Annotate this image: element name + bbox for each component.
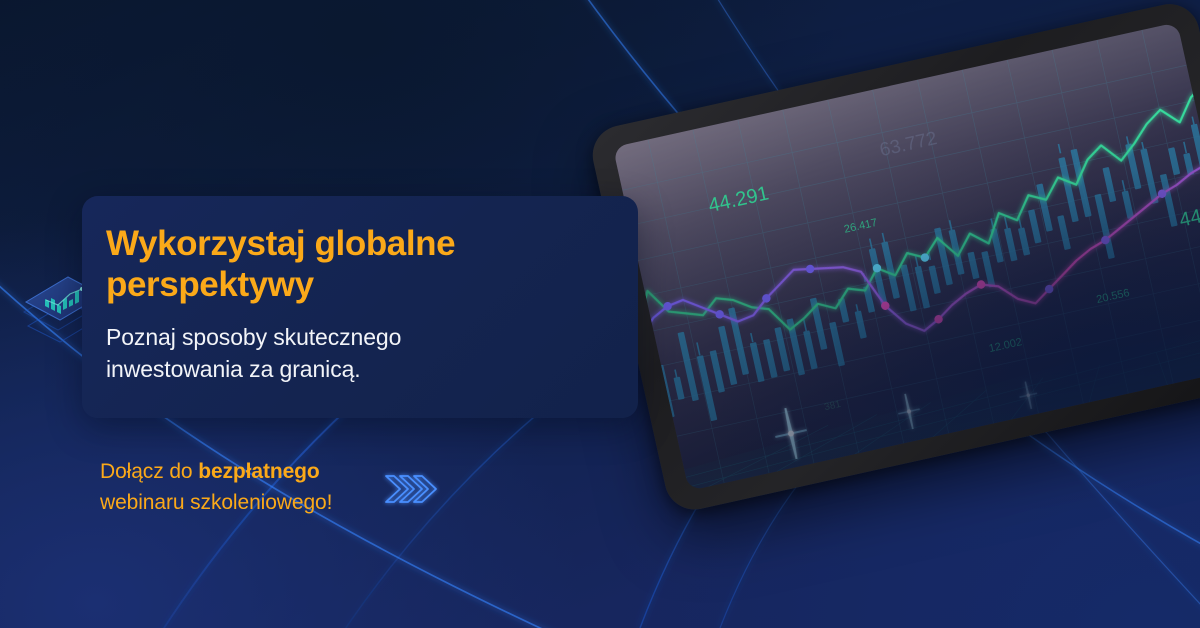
candlestick-wick: [1183, 142, 1187, 154]
cta-prefix: Dołącz do: [100, 460, 198, 483]
candlestick: [915, 266, 931, 309]
candlestick: [928, 265, 940, 294]
candlestick: [829, 322, 845, 367]
candlestick: [774, 327, 790, 372]
candlestick: [1102, 167, 1116, 202]
candlestick: [948, 229, 964, 275]
subhead-line-1: Poznaj sposoby skutecznego: [106, 324, 401, 350]
candlestick: [1160, 174, 1178, 227]
candlestick: [855, 310, 867, 338]
candlestick-wick: [1058, 144, 1062, 154]
candlestick: [967, 252, 979, 280]
chart-value-label: 26.417: [843, 217, 878, 236]
promo-banner: 44.29163.77226.41712.00220.55644.87381 W…: [0, 0, 1200, 628]
candlestick-wick: [696, 342, 700, 355]
candlestick: [1168, 147, 1180, 175]
candlestick: [803, 330, 818, 369]
candlestick: [1140, 148, 1158, 203]
cta-block[interactable]: Dołącz do bezpłatnego webinaru szkolenio…: [100, 456, 530, 522]
candlestick: [673, 377, 684, 400]
line-marker: [976, 279, 986, 289]
candlestick: [710, 350, 726, 393]
line-marker: [805, 264, 815, 274]
candlestick: [657, 365, 675, 418]
triple-chevron-right-icon[interactable]: [382, 468, 440, 510]
headline-line-2: perspektywy: [106, 265, 314, 304]
subhead-line-2: inwestowania za granicą.: [106, 356, 361, 382]
page-title: Wykorzystaj globalne perspektywy: [106, 223, 606, 305]
candlestick: [1094, 194, 1115, 259]
candlestick: [900, 264, 917, 311]
candlestick-wick: [882, 233, 886, 244]
line-marker: [715, 309, 725, 319]
candlestick: [1122, 190, 1134, 218]
chart-value-label: 20.556: [1095, 287, 1130, 306]
info-card: Wykorzystaj globalne perspektywy Poznaj …: [82, 196, 638, 418]
cta-emphasis: bezpłatnego: [198, 460, 319, 483]
candlestick: [763, 339, 778, 378]
candlestick: [750, 342, 765, 382]
cta-line-2: webinaru szkoleniowego!: [100, 491, 332, 514]
candlestick: [1004, 228, 1018, 262]
chart-value-label: 44.291: [706, 182, 770, 217]
chart-value-label: 63.772: [878, 128, 939, 161]
headline-line-1: Wykorzystaj globalne: [106, 224, 455, 263]
cta-text: Dołącz do bezpłatnego webinaru szkolenio…: [100, 456, 400, 518]
candlestick-wick: [750, 333, 754, 342]
candlestick: [1028, 209, 1042, 243]
chart-value-label: 12.002: [988, 336, 1023, 355]
candlestick: [1057, 215, 1071, 250]
candlestick: [1125, 143, 1141, 189]
page-subtitle: Poznaj sposoby skutecznego inwestowania …: [106, 321, 576, 385]
candlestick: [1018, 227, 1030, 255]
chart-value-label: 381: [823, 399, 842, 413]
